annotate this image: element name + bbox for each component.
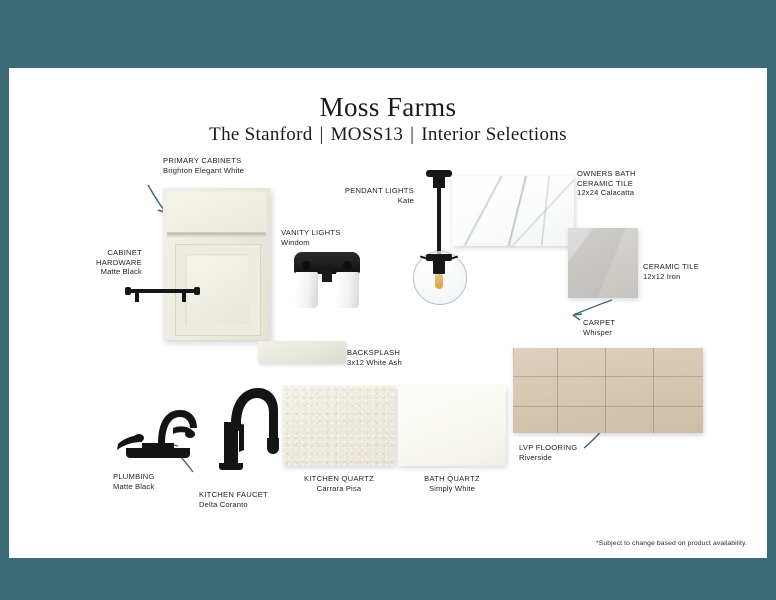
lvp-plank-seam <box>605 348 606 433</box>
subtitle-separator-1: | <box>313 124 331 145</box>
lvp-plank-seam <box>557 348 558 433</box>
arrow-to-carpet <box>568 298 614 322</box>
vanity-shade-right <box>336 272 359 308</box>
bar-pull-post-left <box>135 292 139 302</box>
label-bath-quartz: BATH QUARTZ Simply White <box>398 474 506 493</box>
plumbing-category: PLUMBING <box>113 472 155 482</box>
label-pendant-lights: PENDANT LIGHTS Kate <box>326 186 414 205</box>
page-title: Moss Farms <box>0 92 776 123</box>
lvp-plank-seam <box>653 348 654 433</box>
label-primary-cabinets: PRIMARY CABINETS Brighton Elegant White <box>163 156 244 175</box>
label-owners-bath-ceramic-tile: OWNERS BATH CERAMIC TILE 12x24 Calacatta <box>577 169 636 198</box>
carpet-product: Whisper <box>583 328 615 338</box>
swatch-ceramic-tile <box>568 228 638 298</box>
vanity-shade-left <box>295 272 318 308</box>
swatch-vanity-lights <box>288 252 366 314</box>
cabinet-hardware-category-line1: CABINET <box>38 248 142 258</box>
kitchen-quartz-category: KITCHEN QUARTZ <box>283 474 395 484</box>
label-lvp-flooring: LVP FLOORING Riverside <box>519 443 577 462</box>
cabinet-hardware-product: Matte Black <box>38 267 142 277</box>
label-vanity-lights: VANITY LIGHTS Windom <box>281 228 341 247</box>
lvp-flooring-product: Riverside <box>519 453 577 463</box>
kitchen-quartz-product: Carrara Pisa <box>283 484 395 494</box>
bath-quartz-category: BATH QUARTZ <box>398 474 506 484</box>
owners-bath-tile-category-line1: OWNERS BATH <box>577 169 636 179</box>
pendant-socket <box>433 260 445 274</box>
vanity-socket-right <box>343 261 352 270</box>
cabinet-hardware-category-line2: HARDWARE <box>38 258 142 268</box>
pendant-bulb <box>435 274 443 289</box>
label-plumbing: PLUMBING Matte Black <box>113 472 155 491</box>
top-accent-bar <box>0 0 776 68</box>
swatch-kitchen-faucet <box>206 382 286 472</box>
primary-cabinets-product: Brighton Elegant White <box>163 166 244 176</box>
interior-selections-board: Moss Farms The Stanford|MOSS13|Interior … <box>0 0 776 600</box>
lvp-wood-grain <box>513 348 703 433</box>
pendant-lights-category: PENDANT LIGHTS <box>326 186 414 196</box>
subtitle-separator-2: | <box>403 124 421 145</box>
lvp-plank-seam <box>513 406 703 407</box>
pendant-lights-product: Kate <box>326 196 414 206</box>
label-ceramic-tile: CERAMIC TILE 12x12 Iron <box>643 262 699 281</box>
kitchen-faucet-category: KITCHEN FAUCET <box>199 490 268 500</box>
vanity-center-stem <box>322 270 332 282</box>
bar-pull-cap-left <box>125 287 131 295</box>
subtitle-code: MOSS13 <box>331 124 404 145</box>
plumbing-product: Matte Black <box>113 482 155 492</box>
backsplash-category: BACKSPLASH <box>347 348 402 358</box>
swatch-lvp-flooring <box>513 348 703 433</box>
swatch-cabinet-hardware <box>122 283 202 305</box>
label-backsplash: BACKSPLASH 3x12 White Ash <box>347 348 402 367</box>
kitchen-faucet-product: Delta Coranto <box>199 500 268 510</box>
bath-quartz-product: Simply White <box>398 484 506 494</box>
lvp-flooring-category: LVP FLOORING <box>519 443 577 453</box>
vanity-lights-product: Windom <box>281 238 341 248</box>
backsplash-product: 3x12 White Ash <box>347 358 402 368</box>
owners-bath-tile-product: 12x24 Calacatta <box>577 188 636 198</box>
bar-pull-post-right <box>182 292 186 302</box>
vanity-lights-category: VANITY LIGHTS <box>281 228 341 238</box>
subtitle-kind: Interior Selections <box>421 124 567 145</box>
swatch-owners-bath-ceramic-tile <box>452 176 574 246</box>
lvp-plank-seam <box>513 376 703 377</box>
cabinet-top-drawer <box>167 192 266 233</box>
swatch-kitchen-quartz <box>283 386 395 466</box>
ceramic-tile-product: 12x12 Iron <box>643 272 699 282</box>
swatch-bath-quartz <box>398 386 506 466</box>
vanity-socket-left <box>302 261 311 270</box>
pendant-rod <box>437 187 441 257</box>
swatch-plumbing-bath-faucet <box>112 388 204 466</box>
label-kitchen-faucet: KITCHEN FAUCET Delta Coranto <box>199 490 268 509</box>
ceramic-tile-category: CERAMIC TILE <box>643 262 699 272</box>
primary-cabinets-category: PRIMARY CABINETS <box>163 156 244 166</box>
page-subtitle: The Stanford|MOSS13|Interior Selections <box>0 124 776 146</box>
owners-bath-tile-category-line2: CERAMIC TILE <box>577 179 636 189</box>
footnote-disclaimer: *Subject to change based on product avai… <box>447 540 747 547</box>
subtitle-plan: The Stanford <box>209 124 312 145</box>
cabinet-reveal-line <box>167 233 266 237</box>
swatch-primary-cabinets <box>163 188 270 340</box>
label-cabinet-hardware: CABINET HARDWARE Matte Black <box>38 248 142 277</box>
swatch-backsplash <box>258 341 346 363</box>
bar-pull-cap-right <box>194 287 200 295</box>
bottom-accent-bar <box>0 558 776 600</box>
label-kitchen-quartz: KITCHEN QUARTZ Carrara Pisa <box>283 474 395 493</box>
